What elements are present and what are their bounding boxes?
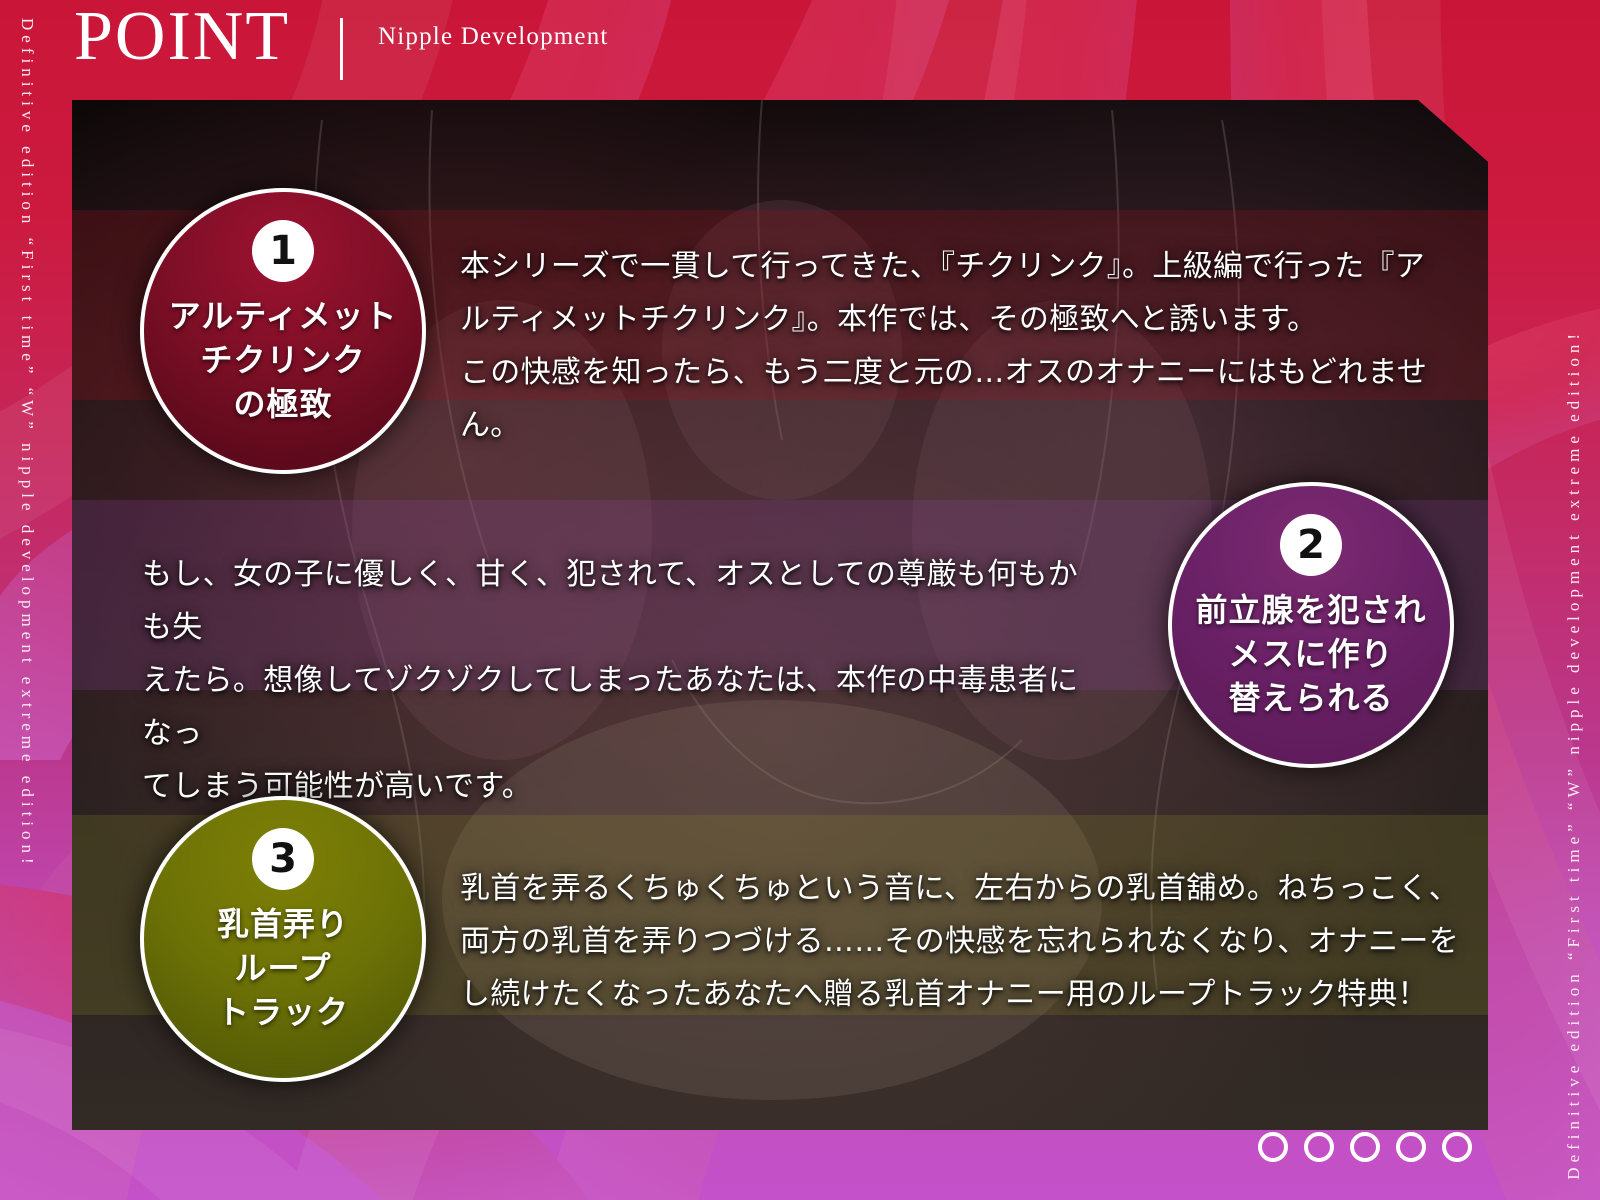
badge-number-2: 2 — [1280, 514, 1342, 576]
point-badge-3: 3 乳首弄り ループ トラック — [140, 796, 426, 1082]
pagination-dot[interactable] — [1350, 1132, 1380, 1162]
badge-number-3: 3 — [252, 828, 314, 890]
point-2-description: もし、女の子に優しく、甘く、犯されて、オスとしての尊厳も何もかも失 えたら。想像… — [142, 548, 1087, 813]
point-1-description: 本シリーズで一貫して行ってきた、『チクリンク』。上級編で行った『ア ルティメット… — [460, 240, 1470, 452]
pagination-dot[interactable] — [1258, 1132, 1288, 1162]
point-badge-2: 2 前立腺を犯され メスに作り 替えられる — [1168, 482, 1454, 768]
pagination-dot[interactable] — [1396, 1132, 1426, 1162]
pagination-dot[interactable] — [1442, 1132, 1472, 1162]
slide-root: POINT Nipple Development Definitive edit… — [0, 0, 1600, 1200]
badge-label-3: 乳首弄り ループ トラック — [217, 902, 349, 1034]
side-caption-left: Definitive edition “First time” “W” nipp… — [17, 18, 37, 869]
header-bar: POINT Nipple Development — [0, 0, 1600, 100]
page-title: POINT — [74, 2, 290, 72]
header-divider — [340, 18, 343, 80]
side-caption-right: Definitive edition “First time” “W” nipp… — [1564, 329, 1584, 1180]
badge-label-1: アルティメット チクリンク の極致 — [169, 294, 398, 426]
pagination-dot[interactable] — [1304, 1132, 1334, 1162]
pagination-dots[interactable] — [1258, 1132, 1472, 1162]
point-3-description: 乳首を弄るくちゅくちゅという音に、左右からの乳首舖め。ねちっこく、 両方の乳首を… — [460, 862, 1470, 1021]
badge-number-1: 1 — [252, 220, 314, 282]
header-subtitle: Nipple Development — [378, 20, 609, 55]
badge-label-2: 前立腺を犯され メスに作り 替えられる — [1195, 588, 1426, 720]
point-badge-1: 1 アルティメット チクリンク の極致 — [140, 188, 426, 474]
